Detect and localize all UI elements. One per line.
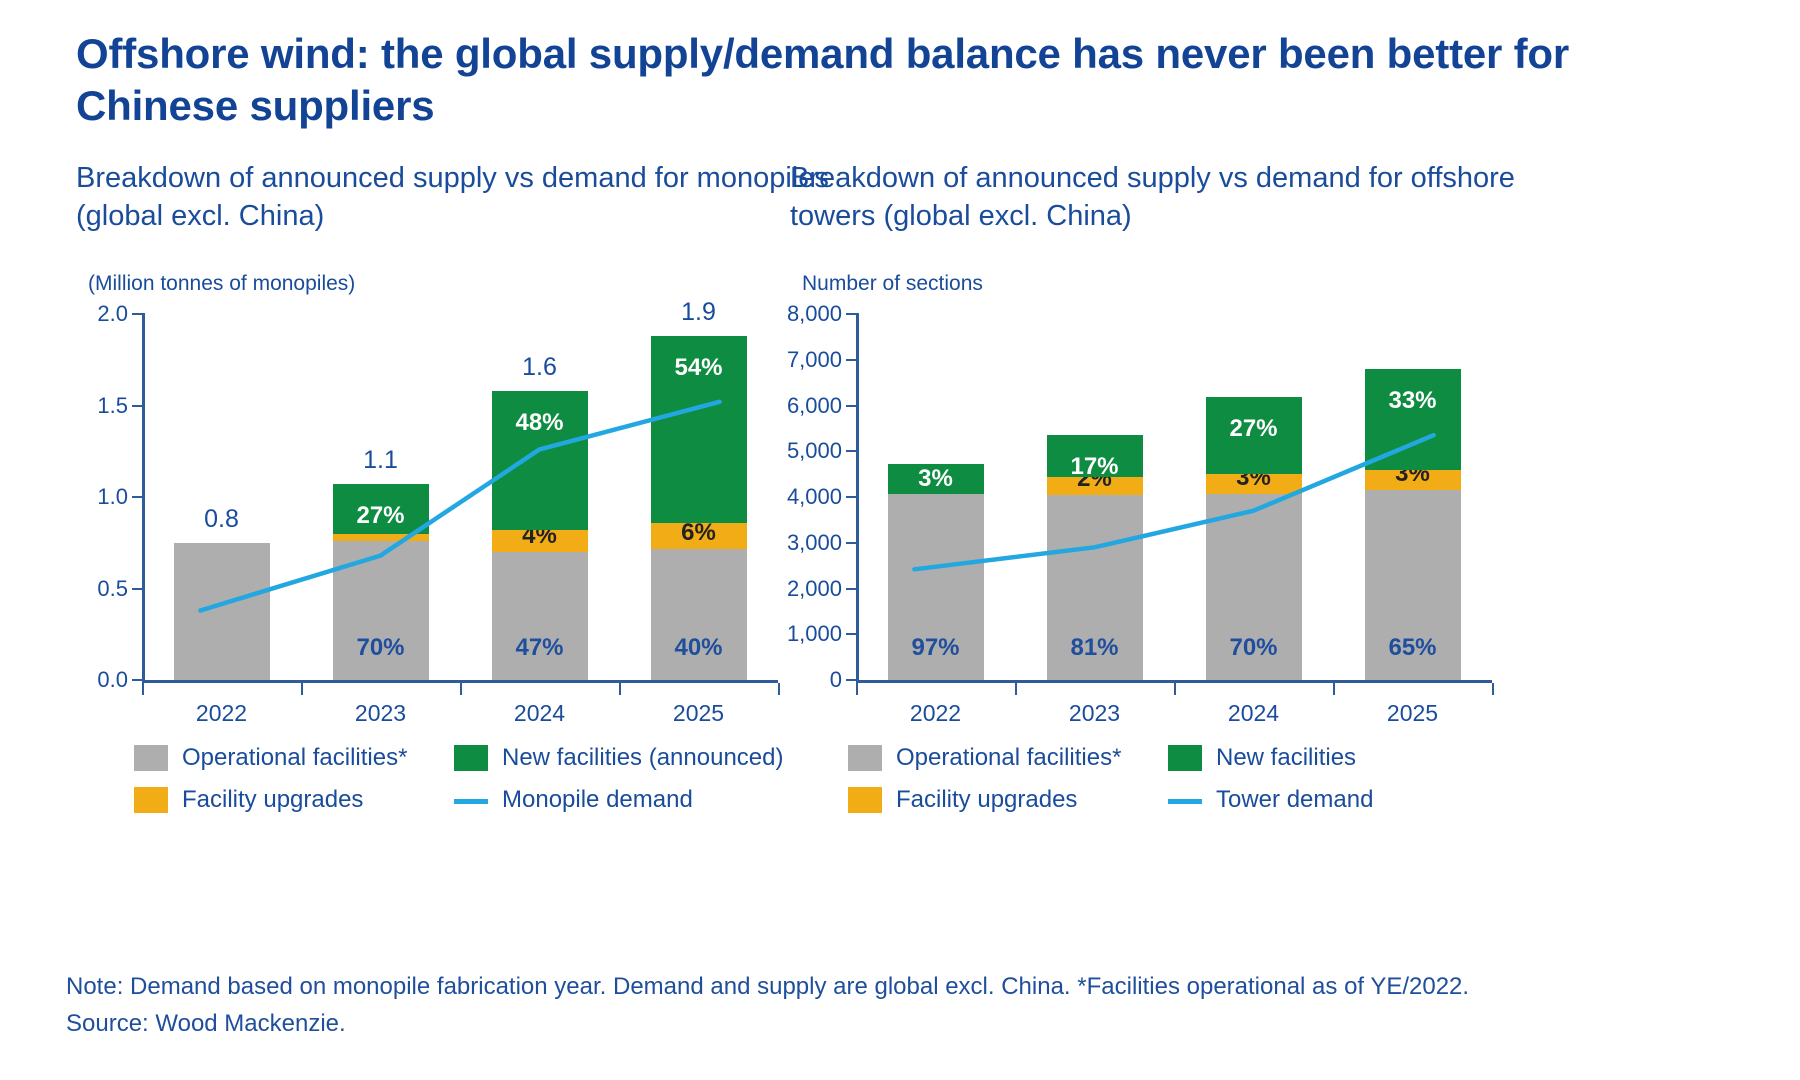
y-axis-line [142,314,145,682]
y-axis-tick-label: 6,000 [787,393,842,419]
x-axis-tick-label: 2024 [1228,700,1279,727]
y-axis-tick [132,496,145,498]
legend-swatch-operational-icon [848,745,882,771]
y-axis-line [856,314,859,682]
y-axis-tick-label: 1.5 [97,393,128,419]
y-axis-tick [846,496,859,498]
bar-column: 70%27%1.1 [333,484,429,680]
legend-label-upgrades: Facility upgrades [896,786,1077,814]
y-axis-tick-label: 2,000 [787,576,842,602]
legend-label-demand: Tower demand [1216,786,1373,814]
bar-column: 65%3%33% [1365,369,1461,680]
x-axis-tick-label: 2025 [1387,700,1438,727]
legend-label-upgrades: Facility upgrades [182,786,363,814]
legend-item-demand: Tower demand [1168,786,1373,814]
axis-unit-note-towers: Number of sections [802,272,983,296]
slide-canvas: Offshore wind: the global supply/demand … [0,0,1800,1080]
x-axis-tick-label: 2025 [673,700,724,727]
page-title: Offshore wind: the global supply/demand … [76,28,1696,132]
bar-segment-label-operational: 81% [1047,634,1143,662]
x-axis-tick [619,683,621,695]
y-axis-tick [846,542,859,544]
bar-segment-label-new: 33% [1365,387,1461,415]
x-axis-tick-label: 2022 [910,700,961,727]
y-axis-tick [846,633,859,635]
x-axis-tick-label: 2023 [355,700,406,727]
bar-segment-label-new: 48% [492,409,588,437]
legend-item-upgrades: Facility upgrades [134,786,454,814]
footer: Note: Demand based on monopile fabricati… [66,968,1726,1042]
legend-item-new: New facilities [1168,744,1356,772]
legend-item-upgrades: Facility upgrades [848,786,1168,814]
legend-item-new: New facilities (announced) [454,744,783,772]
bar-total-label: 1.9 [651,298,747,327]
y-axis-tick [132,679,145,681]
x-axis-tick [1015,683,1017,695]
legend-label-new: New facilities [1216,744,1356,772]
legend-item-demand: Monopile demand [454,786,693,814]
bar-segment-label-new: 17% [1047,453,1143,481]
x-axis-tick [1174,683,1176,695]
legend-monopiles: Operational facilities* New facilities (… [134,744,854,828]
x-axis-tick-label: 2023 [1069,700,1120,727]
bar-segment-label-new: 54% [651,354,747,382]
footer-source: Source: Wood Mackenzie. [66,1005,1726,1042]
bar-segment-operational: 47% [492,543,588,680]
legend-swatch-new-icon [454,745,488,771]
x-axis-tick [460,683,462,695]
panel-towers: Breakdown of announced supply vs demand … [790,160,1620,820]
legend-swatch-upgrades-icon [134,787,168,813]
bar-column: 40%6%54%1.9 [651,336,747,680]
bar-segment-label-operational: 65% [1365,634,1461,662]
y-axis-tick-label: 1.0 [97,484,128,510]
bar-segment-new [1365,369,1461,470]
panel-title-monopiles: Breakdown of announced supply vs demand … [76,160,866,235]
x-axis-tick-label: 2022 [196,700,247,727]
bar-segment-operational [174,543,270,680]
legend-label-demand: Monopile demand [502,786,693,814]
x-axis-tick [1492,683,1494,695]
bar-segment-operational: 40% [651,543,747,680]
bar-segment-label-new: 27% [1206,415,1302,443]
legend-swatch-operational-icon [134,745,168,771]
y-axis-tick-label: 1,000 [787,621,842,647]
bar-segment-upgrades [333,534,429,541]
legend-label-operational: Operational facilities* [896,744,1121,772]
bar-segment-label-operational: 97% [888,634,984,662]
y-axis-tick [846,313,859,315]
x-axis-tick [142,683,144,695]
x-axis-tick [856,683,858,695]
bar-segment-operational: 65% [1365,479,1461,680]
legend-swatch-demand-line-icon [1168,799,1202,804]
legend-item-operational: Operational facilities* [848,744,1168,772]
bar-column: 0.8 [174,543,270,680]
legend-swatch-upgrades-icon [848,787,882,813]
y-axis-tick-label: 4,000 [787,484,842,510]
bar-total-label: 1.6 [492,353,588,382]
bar-segment-label-operational: 40% [651,634,747,662]
y-axis-tick-label: 5,000 [787,438,842,464]
legend-item-operational: Operational facilities* [134,744,454,772]
y-axis-tick [846,588,859,590]
legend-label-operational: Operational facilities* [182,744,407,772]
x-axis-tick [1333,683,1335,695]
bar-segment-operational: 70% [333,541,429,680]
footer-note: Note: Demand based on monopile fabricati… [66,968,1726,1005]
legend-towers: Operational facilities* New facilities F… [848,744,1568,828]
bar-column: 81%2%17% [1047,435,1143,680]
y-axis-tick-label: 2.0 [97,301,128,327]
bar-segment-label-operational: 70% [1206,634,1302,662]
y-axis-tick-label: 3,000 [787,530,842,556]
bar-column: 97%3% [888,474,984,680]
bar-column: 47%4%48%1.6 [492,391,588,680]
y-axis-tick [846,359,859,361]
y-axis-tick [132,588,145,590]
bar-segment-label-new: 3% [888,464,984,494]
x-axis-tick [301,683,303,695]
bar-segment-operational: 70% [1206,482,1302,680]
y-axis-tick [846,679,859,681]
legend-swatch-demand-line-icon [454,799,488,804]
y-axis-tick [132,313,145,315]
y-axis-tick-label: 0 [830,667,842,693]
y-axis-tick-label: 0.0 [97,667,128,693]
x-axis-tick-label: 2024 [514,700,565,727]
y-axis-tick-label: 0.5 [97,576,128,602]
bar-segment-operational: 81% [1047,482,1143,680]
bar-total-label: 1.1 [333,446,429,475]
bar-segment-operational: 97% [888,481,984,680]
bar-segment-label-operational: 70% [333,634,429,662]
bar-segment-label-new: 27% [333,502,429,530]
y-axis-tick-label: 8,000 [787,301,842,327]
legend-swatch-new-icon [1168,745,1202,771]
panel-title-towers: Breakdown of announced supply vs demand … [790,160,1580,235]
bar-column: 70%3%27% [1206,397,1302,680]
axis-unit-note-monopiles: (Million tonnes of monopiles) [88,272,355,296]
x-axis-tick [778,683,780,695]
y-axis-tick [846,405,859,407]
panel-monopiles: Breakdown of announced supply vs demand … [76,160,906,820]
bar-total-label: 0.8 [174,505,270,534]
chart-towers: 01,0002,0003,0004,0005,0006,0007,0008,00… [790,308,1490,728]
y-axis-tick [132,405,145,407]
y-axis-tick-label: 7,000 [787,347,842,373]
y-axis-tick [846,450,859,452]
bar-segment-label-operational: 47% [492,634,588,662]
legend-label-new: New facilities (announced) [502,744,783,772]
chart-monopiles: 0.00.51.01.52.020222023202420250.870%27%… [76,308,776,728]
